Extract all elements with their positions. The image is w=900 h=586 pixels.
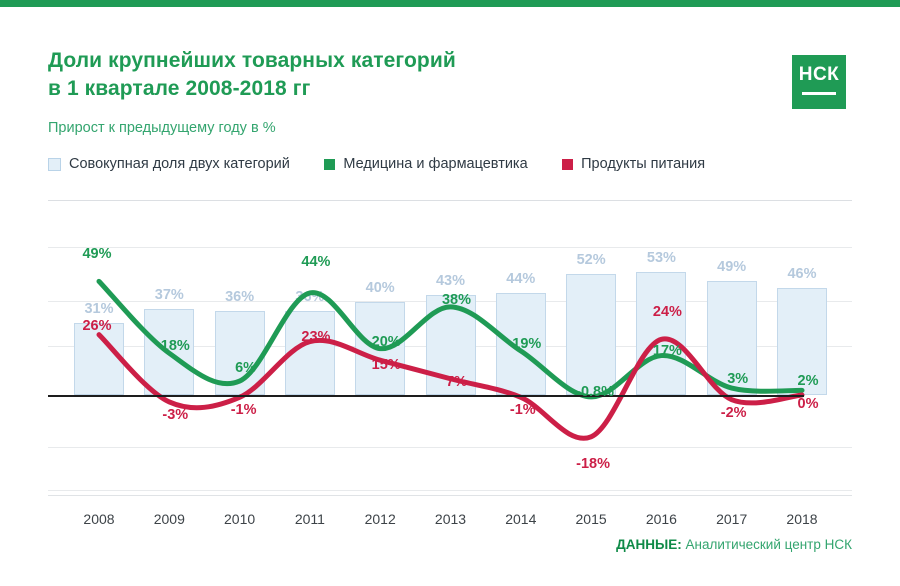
page-title-line1: Доли крупнейших товарных категорий [48, 47, 608, 75]
top-accent-bar [0, 0, 900, 7]
legend-label-food: Продукты питания [581, 156, 705, 172]
medicine-value-label-2010: 6% [206, 360, 286, 376]
medicine-value-label-2015: -0.8% [555, 384, 635, 400]
legend-item-food: Продукты питания [562, 156, 705, 172]
food-value-label-2011: 23% [276, 329, 356, 345]
green-swatch-icon [324, 159, 335, 170]
x-axis-label-2011: 2011 [275, 511, 345, 527]
x-axis-labels: 2008200920102011201220132014201520162017… [0, 506, 900, 532]
x-axis-label-2010: 2010 [205, 511, 275, 527]
nsk-logo: НСК [792, 55, 846, 109]
source-label: ДАННЫЕ: [616, 537, 682, 552]
page-title-line2: в 1 квартале 2008-2018 гг [48, 75, 608, 103]
x-axis-label-2018: 2018 [767, 511, 837, 527]
x-axis-label-2017: 2017 [697, 511, 767, 527]
medicine-value-label-2018: 2% [768, 373, 848, 389]
food-value-label-2010: -1% [204, 402, 284, 418]
medicine-value-label-2011: 44% [276, 254, 356, 270]
chart-legend: Совокупная доля двух категорий Медицина … [48, 156, 735, 180]
x-axis-label-2016: 2016 [626, 511, 696, 527]
medicine-value-label-2014: 19% [487, 336, 567, 352]
x-axis-label-2013: 2013 [416, 511, 486, 527]
medicine-value-label-2017: 3% [698, 371, 778, 387]
chart-plot-area: 31%37%36%36%40%43%44%52%53%49%46% 49%18%… [0, 200, 900, 510]
source-value: Аналитический центр НСК [686, 537, 853, 552]
x-axis-label-2015: 2015 [556, 511, 626, 527]
chart-header: Доли крупнейших товарных категорий в 1 к… [0, 7, 900, 193]
x-axis-label-2008: 2008 [64, 511, 134, 527]
food-value-label-2018: 0% [768, 396, 848, 412]
logo-underline [802, 92, 836, 95]
page-title: Доли крупнейших товарных категорий в 1 к… [48, 47, 608, 103]
food-value-label-2015: -18% [553, 456, 633, 472]
medicine-value-label-2012: 20% [346, 334, 426, 350]
source-footer: ДАННЫЕ: Аналитический центр НСК [0, 537, 852, 552]
x-axis-label-2012: 2012 [345, 511, 415, 527]
red-swatch-icon [562, 159, 573, 170]
x-axis-label-2014: 2014 [486, 511, 556, 527]
page-subtitle: Прирост к предыдущему году в % [48, 120, 276, 136]
legend-item-medicine: Медицина и фармацевтика [324, 156, 527, 172]
x-axis-label-2009: 2009 [134, 511, 204, 527]
legend-label-combined-share: Совокупная доля двух категорий [69, 156, 290, 172]
food-value-label-2014: -1% [483, 402, 563, 418]
food-value-label-2008: 26% [57, 318, 137, 334]
food-value-label-2016: 24% [627, 304, 707, 320]
medicine-value-label-2008: 49% [57, 246, 137, 262]
food-value-label-2017: -2% [694, 405, 774, 421]
food-value-label-2012: 15% [346, 357, 426, 373]
legend-item-combined-share: Совокупная доля двух категорий [48, 156, 290, 172]
medicine-value-label-2009: 18% [135, 338, 215, 354]
x-axis-line [48, 495, 852, 496]
legend-label-medicine: Медицина и фармацевтика [343, 156, 527, 172]
bars-swatch-icon [48, 158, 61, 171]
logo-text: НСК [792, 64, 846, 86]
medicine-value-label-2013: 38% [417, 292, 497, 308]
food-value-label-2013: 7% [417, 374, 497, 390]
medicine-value-label-2016: 17% [627, 343, 707, 359]
zero-axis-line [48, 395, 804, 397]
